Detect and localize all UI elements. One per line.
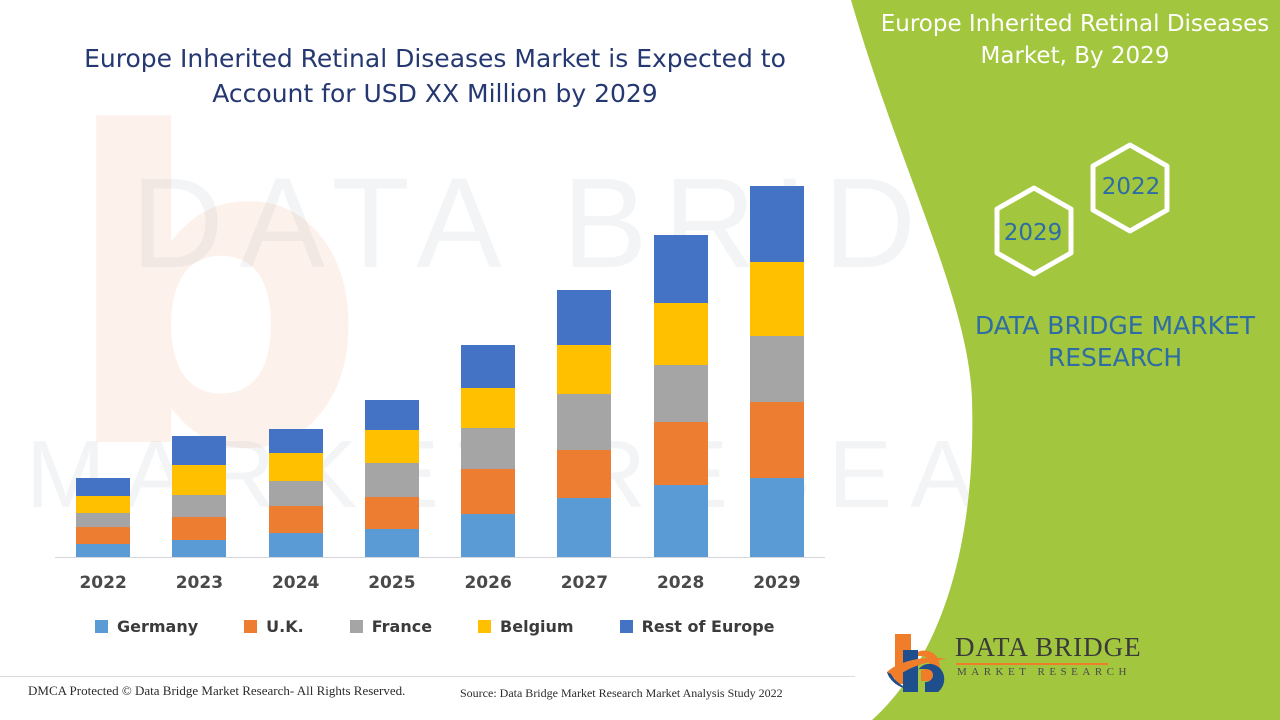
brand-name-line1: DATA BRIDGE MARKET [975, 311, 1255, 340]
panel-title: Europe Inherited Retinal Diseases Market… [880, 8, 1270, 72]
bar-segment-france-2024 [269, 481, 323, 506]
legend-swatch-france [350, 620, 363, 633]
bar-segment-france-2022 [76, 513, 130, 527]
legend-label-belgium: Belgium [500, 617, 574, 636]
bar-segment-u-k-2029 [750, 402, 804, 477]
bar-segment-belgium-2029 [750, 262, 804, 336]
bar-segment-belgium-2028 [654, 303, 708, 365]
legend-swatch-rest-of-europe [620, 620, 633, 633]
bar-segment-belgium-2024 [269, 453, 323, 480]
bar-2025 [365, 400, 419, 558]
legend-item-france[interactable]: France [350, 617, 432, 636]
brand-name: DATA BRIDGE MARKET RESEARCH [950, 310, 1280, 374]
bar-2027 [557, 290, 611, 558]
hexagon-badges: 2022 2029 [975, 140, 1205, 285]
legend-swatch-germany [95, 620, 108, 633]
bar-segment-germany-2026 [461, 514, 515, 558]
bar-segment-germany-2029 [750, 478, 804, 558]
bar-segment-rest-of-europe-2025 [365, 400, 419, 429]
bar-segment-germany-2027 [557, 498, 611, 558]
bar-2023 [172, 436, 226, 558]
bar-2026 [461, 345, 515, 558]
bar-segment-rest-of-europe-2029 [750, 186, 804, 262]
legend-label-u-k: U.K. [266, 617, 304, 636]
bar-segment-u-k-2027 [557, 450, 611, 498]
hexagon-year-2029: 2029 [997, 220, 1069, 246]
bar-segment-rest-of-europe-2028 [654, 235, 708, 303]
bar-segment-rest-of-europe-2023 [172, 436, 226, 464]
x-axis-label-2025: 2025 [344, 573, 440, 593]
x-axis-label-2023: 2023 [151, 573, 247, 593]
bar-segment-belgium-2022 [76, 496, 130, 513]
hexagon-shapes [975, 140, 1205, 285]
legend-item-u-k[interactable]: U.K. [244, 617, 304, 636]
footer-divider [0, 676, 855, 677]
legend-label-france: France [372, 617, 432, 636]
x-axis-label-2022: 2022 [55, 573, 151, 593]
bar-segment-france-2026 [461, 428, 515, 469]
logo-divider [956, 663, 1108, 665]
bar-segment-france-2023 [172, 495, 226, 517]
bar-segment-u-k-2023 [172, 517, 226, 539]
bar-segment-rest-of-europe-2022 [76, 478, 130, 496]
legend-item-belgium[interactable]: Belgium [478, 617, 574, 636]
legend-swatch-u-k [244, 620, 257, 633]
bar-segment-france-2029 [750, 336, 804, 402]
legend-swatch-belgium [478, 620, 491, 633]
bar-segment-france-2028 [654, 365, 708, 422]
legend-label-rest-of-europe: Rest of Europe [642, 617, 775, 636]
bar-segment-germany-2025 [365, 529, 419, 558]
bar-segment-u-k-2024 [269, 506, 323, 532]
data-bridge-logo: DATA BRIDGE MARKET RESEARCH [885, 628, 1115, 698]
bar-segment-france-2025 [365, 463, 419, 497]
x-axis-label-2024: 2024 [248, 573, 344, 593]
bar-2022 [76, 478, 130, 558]
bar-segment-belgium-2026 [461, 388, 515, 428]
bar-segment-germany-2028 [654, 485, 708, 558]
bar-segment-belgium-2023 [172, 465, 226, 495]
infographic-root: b DATA BRIDGE MARKET RESEARCH Europe Inh… [0, 0, 1280, 720]
legend-item-rest-of-europe[interactable]: Rest of Europe [620, 617, 775, 636]
footer-source: Source: Data Bridge Market Research Mark… [460, 686, 783, 701]
bar-segment-germany-2024 [269, 533, 323, 558]
bar-segment-germany-2022 [76, 544, 130, 558]
footer-copyright: DMCA Protected © Data Bridge Market Rese… [28, 683, 405, 699]
bar-2024 [269, 429, 323, 558]
logo-wordmark: DATA BRIDGE [955, 632, 1142, 663]
bar-segment-u-k-2026 [461, 469, 515, 515]
hexagon-year-2022: 2022 [1095, 174, 1167, 200]
x-axis-label-2029: 2029 [729, 573, 825, 593]
x-axis-label-2027: 2027 [536, 573, 632, 593]
logo-mark-icon [885, 628, 955, 696]
bar-segment-rest-of-europe-2024 [269, 429, 323, 453]
bar-2029 [750, 186, 804, 558]
brand-name-line2: RESEARCH [1048, 343, 1182, 372]
bar-segment-belgium-2025 [365, 430, 419, 464]
legend-item-germany[interactable]: Germany [95, 617, 198, 636]
x-axis-labels: 20222023202420252026202720282029 [55, 573, 825, 599]
bar-segment-rest-of-europe-2026 [461, 345, 515, 389]
x-axis-label-2026: 2026 [440, 573, 536, 593]
page-title: Europe Inherited Retinal Diseases Market… [60, 42, 810, 111]
bar-segment-u-k-2028 [654, 422, 708, 485]
stacked-bar-chart [55, 160, 825, 558]
bar-segment-rest-of-europe-2027 [557, 290, 611, 345]
bar-2028 [654, 235, 708, 558]
logo-subtitle: MARKET RESEARCH [957, 666, 1131, 678]
bar-segment-u-k-2025 [365, 497, 419, 529]
bar-segment-u-k-2022 [76, 527, 130, 543]
legend-label-germany: Germany [117, 617, 198, 636]
chart-legend: GermanyU.K.FranceBelgiumRest of Europe [95, 617, 821, 636]
x-axis-label-2028: 2028 [633, 573, 729, 593]
bar-segment-france-2027 [557, 394, 611, 450]
bar-segment-belgium-2027 [557, 345, 611, 395]
bar-segment-germany-2023 [172, 540, 226, 558]
x-axis-line [55, 557, 825, 558]
